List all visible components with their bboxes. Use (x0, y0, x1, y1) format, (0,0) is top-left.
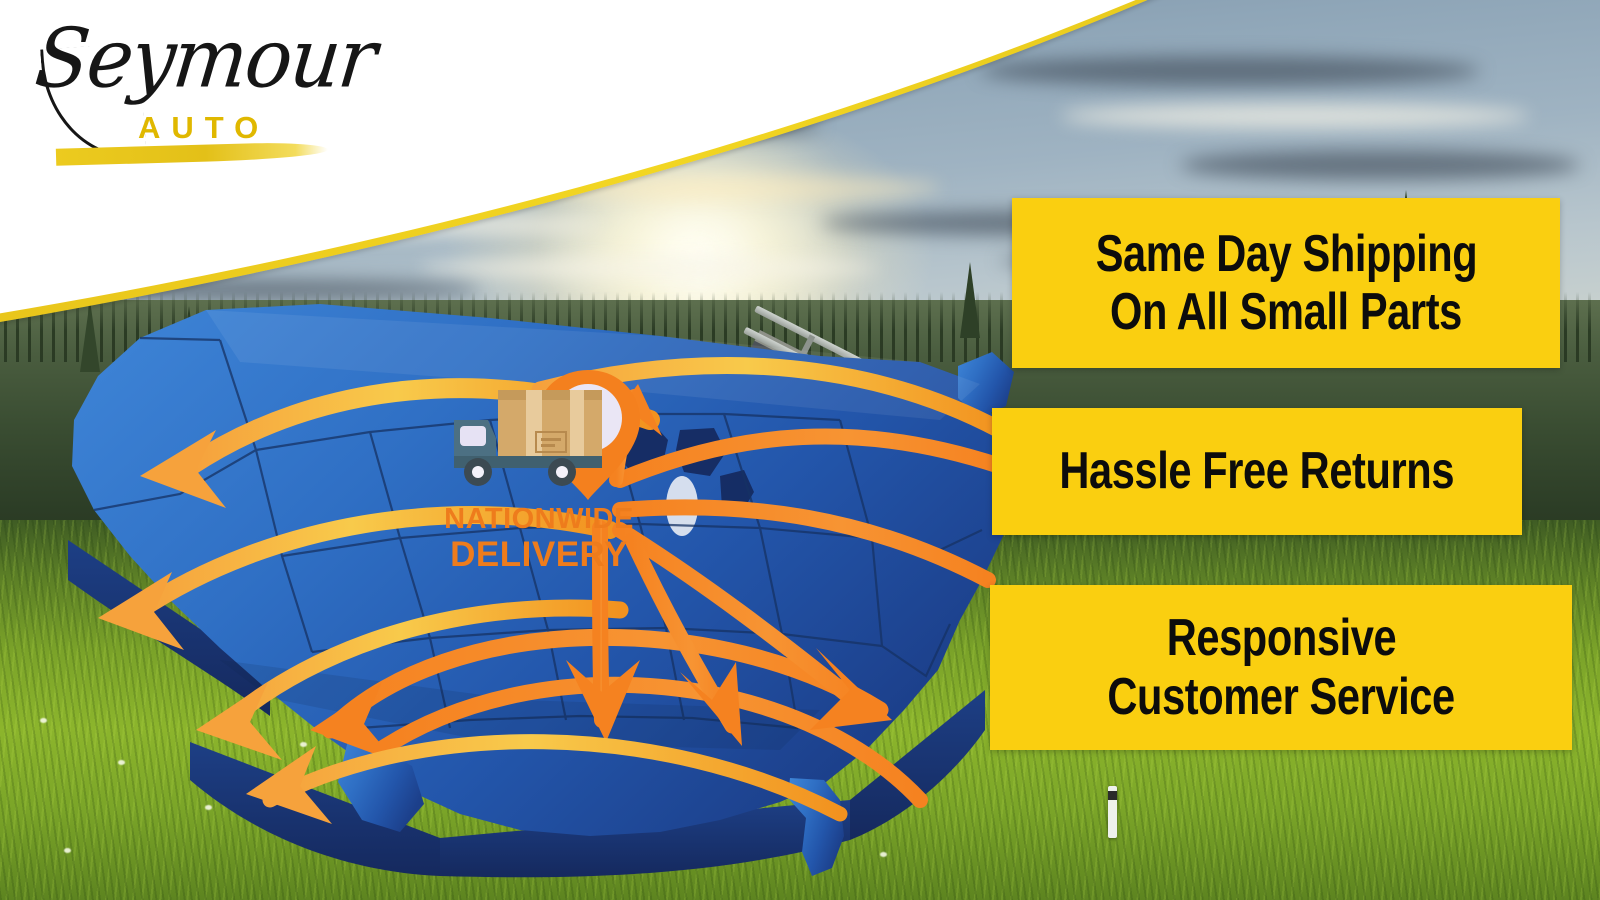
caption-line-1: NATIONWIDE (424, 505, 654, 534)
cloud (1060, 104, 1530, 128)
cloud (980, 56, 1480, 86)
logo-subtitle: AUTO (138, 110, 269, 146)
brand-logo[interactable]: Seymour AUTO (30, 18, 340, 166)
promotional-banner: Seymour AUTO (0, 0, 1600, 900)
nationwide-delivery-caption: NATIONWIDE DELIVERY (424, 505, 654, 572)
feature-box-same-day-shipping[interactable]: Same Day Shipping On All Small Parts (1012, 198, 1560, 368)
cloud (1180, 150, 1580, 180)
feature-line: Responsive (1166, 609, 1396, 667)
feature-line: On All Small Parts (1110, 283, 1462, 341)
cloud (420, 258, 880, 278)
roadside-marker-post (1108, 786, 1117, 838)
feature-line: Hassle Free Returns (1060, 442, 1455, 500)
feature-box-hassle-free-returns[interactable]: Hassle Free Returns (992, 408, 1522, 535)
cardboard-box-icon (498, 390, 602, 464)
logo-wordmark: Seymour (31, 12, 379, 107)
feature-box-responsive-customer-service[interactable]: Responsive Customer Service (990, 585, 1572, 750)
feature-line: Customer Service (1107, 668, 1454, 726)
caption-line-2: DELIVERY (424, 537, 654, 572)
feature-line: Same Day Shipping (1095, 225, 1477, 283)
